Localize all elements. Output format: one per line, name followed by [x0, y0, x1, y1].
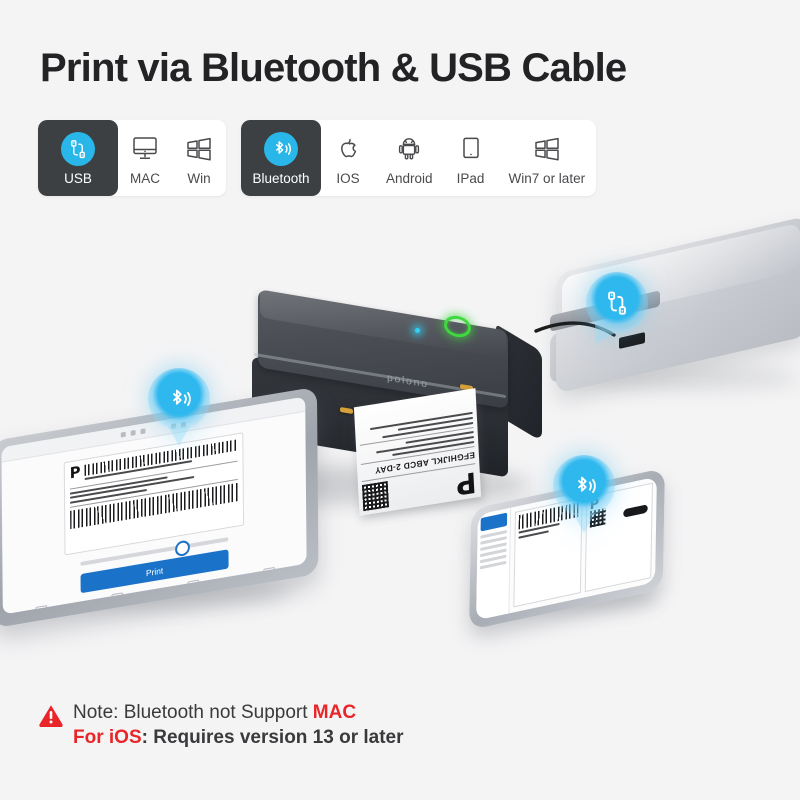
tile-android[interactable]: Android	[375, 120, 444, 196]
tile-usb[interactable]: USB	[38, 120, 118, 196]
windows-icon	[532, 130, 562, 168]
windows-icon	[184, 130, 214, 168]
tile-ipad[interactable]: IPad	[444, 120, 498, 196]
warning-triangle-icon	[38, 703, 64, 732]
product-scene: polono P EFGHIJKL ABCD 2-DAY	[0, 215, 800, 685]
bluetooth-glow-badge-tablet	[148, 368, 210, 430]
bluetooth-glow-badge-phone	[553, 455, 615, 517]
tile-ios[interactable]: IOS	[321, 120, 375, 196]
usb-glow-badge	[586, 272, 648, 334]
tablet: P Print	[0, 415, 320, 600]
usb-cable-icon	[61, 130, 95, 168]
label-logo: P	[70, 466, 81, 481]
note-line-2-highlight: For iOS	[73, 727, 142, 748]
ipad-icon	[458, 130, 484, 168]
tile-label: Win7 or later	[509, 171, 586, 186]
phone-primary-button[interactable]	[481, 513, 508, 532]
qr-code-icon	[362, 481, 389, 511]
tile-mac[interactable]: MAC	[118, 120, 172, 196]
note-line-1: Note: Bluetooth not Support MAC	[73, 700, 404, 725]
tile-label: Win	[187, 171, 210, 186]
page-title: Print via Bluetooth & USB Cable	[40, 46, 626, 91]
tile-label: IPad	[457, 171, 485, 186]
note-line-2: For iOS: Requires version 13 or later	[73, 725, 404, 750]
bluetooth-signal-icon	[264, 130, 298, 168]
phone-sidebar[interactable]	[476, 508, 511, 621]
compatibility-groups: USB MAC	[38, 120, 596, 196]
tile-win[interactable]: Win	[172, 120, 226, 196]
monitor-icon	[130, 130, 160, 168]
tile-label: Android	[386, 171, 433, 186]
tile-bluetooth[interactable]: Bluetooth	[241, 120, 321, 196]
tile-win7[interactable]: Win7 or later	[498, 120, 597, 196]
note-line-1-prefix: Note: Bluetooth not Support	[73, 702, 313, 723]
android-icon	[395, 130, 423, 168]
note-block: Note: Bluetooth not Support MAC For iOS:…	[38, 700, 404, 750]
tile-label: Bluetooth	[252, 171, 309, 186]
printed-label: P EFGHIJKL ABCD 2-DAY	[354, 388, 481, 516]
note-line-2-suffix: : Requires version 13 or later	[142, 727, 404, 748]
tile-label: USB	[64, 171, 92, 186]
note-line-1-highlight: MAC	[313, 702, 356, 723]
slider-knob[interactable]	[175, 540, 190, 558]
product-feature-page: Print via Bluetooth & USB Cable	[0, 0, 800, 800]
apple-icon	[334, 130, 362, 168]
tablet-label-preview: P	[64, 432, 244, 555]
status-led-icon	[415, 328, 420, 333]
tile-label: MAC	[130, 171, 160, 186]
tile-label: IOS	[336, 171, 359, 186]
note-text: Note: Bluetooth not Support MAC For iOS:…	[73, 700, 404, 750]
bluetooth-group: Bluetooth IOS	[241, 120, 596, 196]
usb-group: USB MAC	[38, 120, 226, 196]
